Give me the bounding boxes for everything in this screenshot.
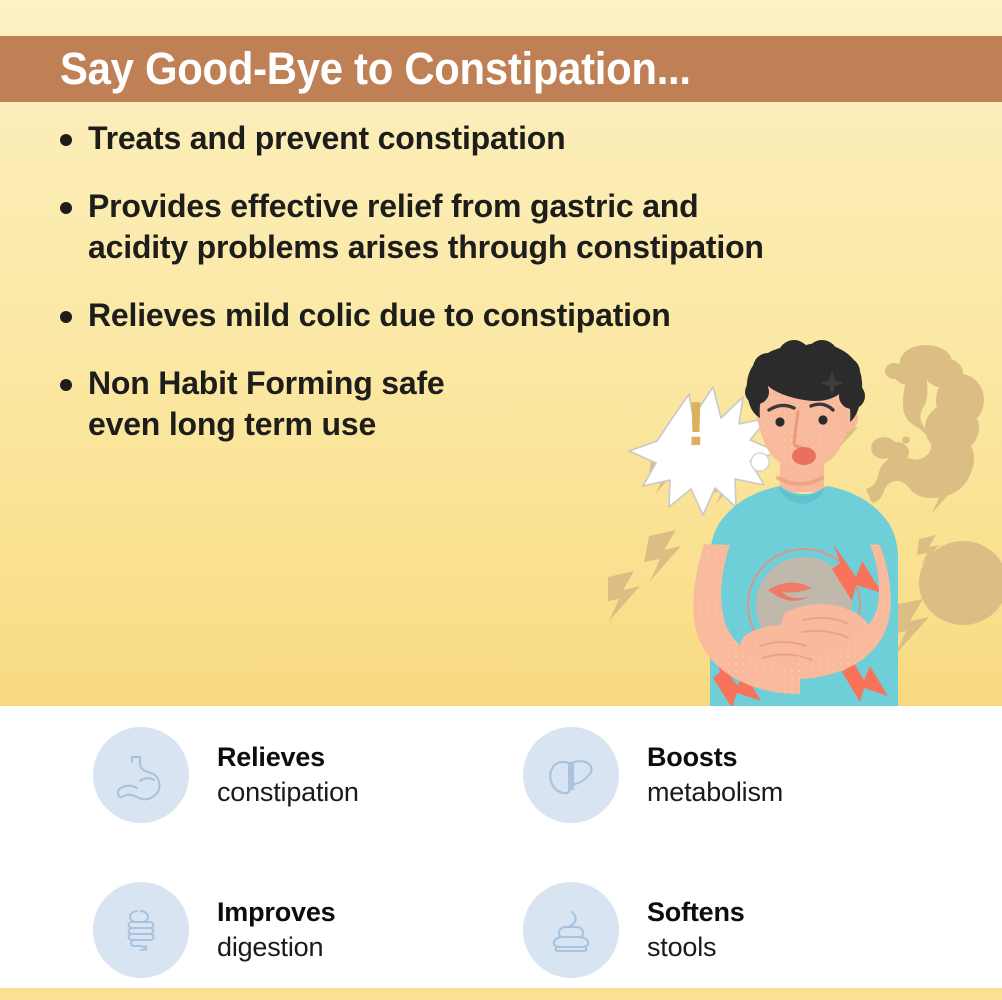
- list-item: Treats and prevent constipation: [58, 118, 858, 159]
- benefit-item-boosts-metabolism: Boosts metabolism: [523, 706, 953, 861]
- benefit-item-softens-stools: Softens stools: [523, 861, 953, 1000]
- benefit-subtitle: digestion: [217, 929, 335, 965]
- benefit-title: Improves: [217, 895, 335, 929]
- benefit-subtitle: constipation: [217, 774, 359, 810]
- bottom-accent-strip: [0, 988, 1002, 1000]
- man-figure: [693, 340, 898, 706]
- list-item: Provides effective relief from gastric a…: [58, 186, 858, 268]
- benefit-subtitle: stools: [647, 929, 745, 965]
- benefit-text: Improves digestion: [217, 861, 335, 965]
- benefit-subtitle: metabolism: [647, 774, 783, 810]
- benefit-item-relieves-constipation: Relieves constipation: [93, 706, 523, 861]
- header-band: Say Good-Bye to Constipation...: [0, 36, 1002, 102]
- exclamation-glyph: !: [686, 390, 707, 459]
- stool-icon: [523, 882, 619, 978]
- man-stomach-pain-illustration: !: [608, 340, 1002, 706]
- benefit-item-improves-digestion: Improves digestion: [93, 861, 523, 1000]
- benefit-title: Boosts: [647, 740, 783, 774]
- benefits-grid: Relieves constipation Boosts metabolism: [0, 706, 1002, 1000]
- benefit-text: Boosts metabolism: [647, 706, 783, 810]
- list-item: Relieves mild colic due to constipation: [58, 295, 858, 336]
- benefit-text: Softens stools: [647, 861, 745, 965]
- benefits-section: Relieves constipation Boosts metabolism: [0, 706, 1002, 1000]
- intestines-icon: [93, 882, 189, 978]
- liver-icon: [523, 727, 619, 823]
- stomach-icon: [93, 727, 189, 823]
- benefit-text: Relieves constipation: [217, 706, 359, 810]
- benefit-title: Relieves: [217, 740, 359, 774]
- benefit-title: Softens: [647, 895, 745, 929]
- constipation-relief-poster: Say Good-Bye to Constipation... Treats a…: [0, 0, 1002, 1000]
- top-hero-section: Say Good-Bye to Constipation... Treats a…: [0, 0, 1002, 706]
- page-title: Say Good-Bye to Constipation...: [60, 43, 691, 95]
